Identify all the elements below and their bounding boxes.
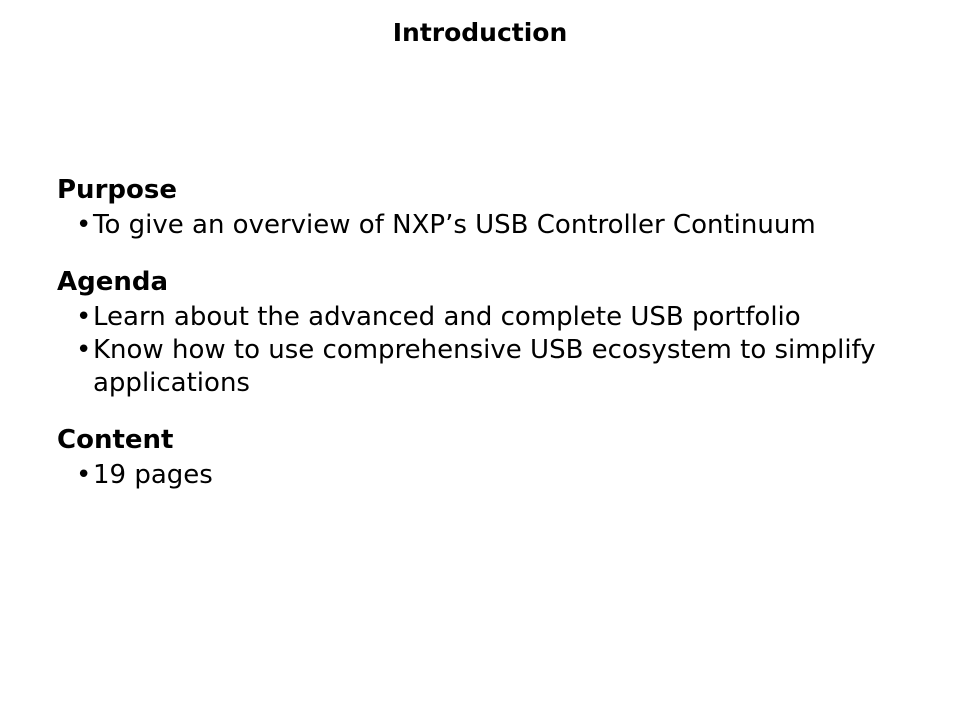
bullet-point-icon: • bbox=[76, 459, 91, 492]
section-heading-purpose: Purpose bbox=[57, 174, 917, 207]
bullet-list-content: • 19 pages bbox=[57, 459, 917, 492]
list-item: • 19 pages bbox=[57, 459, 917, 492]
bullet-point-icon: • bbox=[76, 301, 91, 334]
section-heading-content: Content bbox=[57, 424, 917, 457]
presentation-slide: Introduction Purpose • To give an overvi… bbox=[0, 0, 960, 720]
section-content: Content • 19 pages bbox=[57, 424, 917, 492]
list-item-label: To give an overview of NXP’s USB Control… bbox=[93, 209, 917, 242]
section-purpose: Purpose • To give an overview of NXP’s U… bbox=[57, 174, 917, 242]
list-item: • Learn about the advanced and complete … bbox=[57, 301, 917, 334]
list-item-label: 19 pages bbox=[93, 459, 917, 492]
bullet-point-icon: • bbox=[76, 209, 91, 242]
list-item: • To give an overview of NXP’s USB Contr… bbox=[57, 209, 917, 242]
list-item: • Know how to use comprehensive USB ecos… bbox=[57, 334, 917, 400]
list-item-label: Know how to use comprehensive USB ecosys… bbox=[93, 334, 917, 400]
bullet-list-agenda: • Learn about the advanced and complete … bbox=[57, 301, 917, 400]
slide-body: Purpose • To give an overview of NXP’s U… bbox=[57, 174, 917, 492]
list-item-label: Learn about the advanced and complete US… bbox=[93, 301, 917, 334]
section-agenda: Agenda • Learn about the advanced and co… bbox=[57, 266, 917, 400]
bullet-point-icon: • bbox=[76, 334, 91, 367]
bullet-list-purpose: • To give an overview of NXP’s USB Contr… bbox=[57, 209, 917, 242]
section-heading-agenda: Agenda bbox=[57, 266, 917, 299]
page-title: Introduction bbox=[0, 17, 960, 49]
